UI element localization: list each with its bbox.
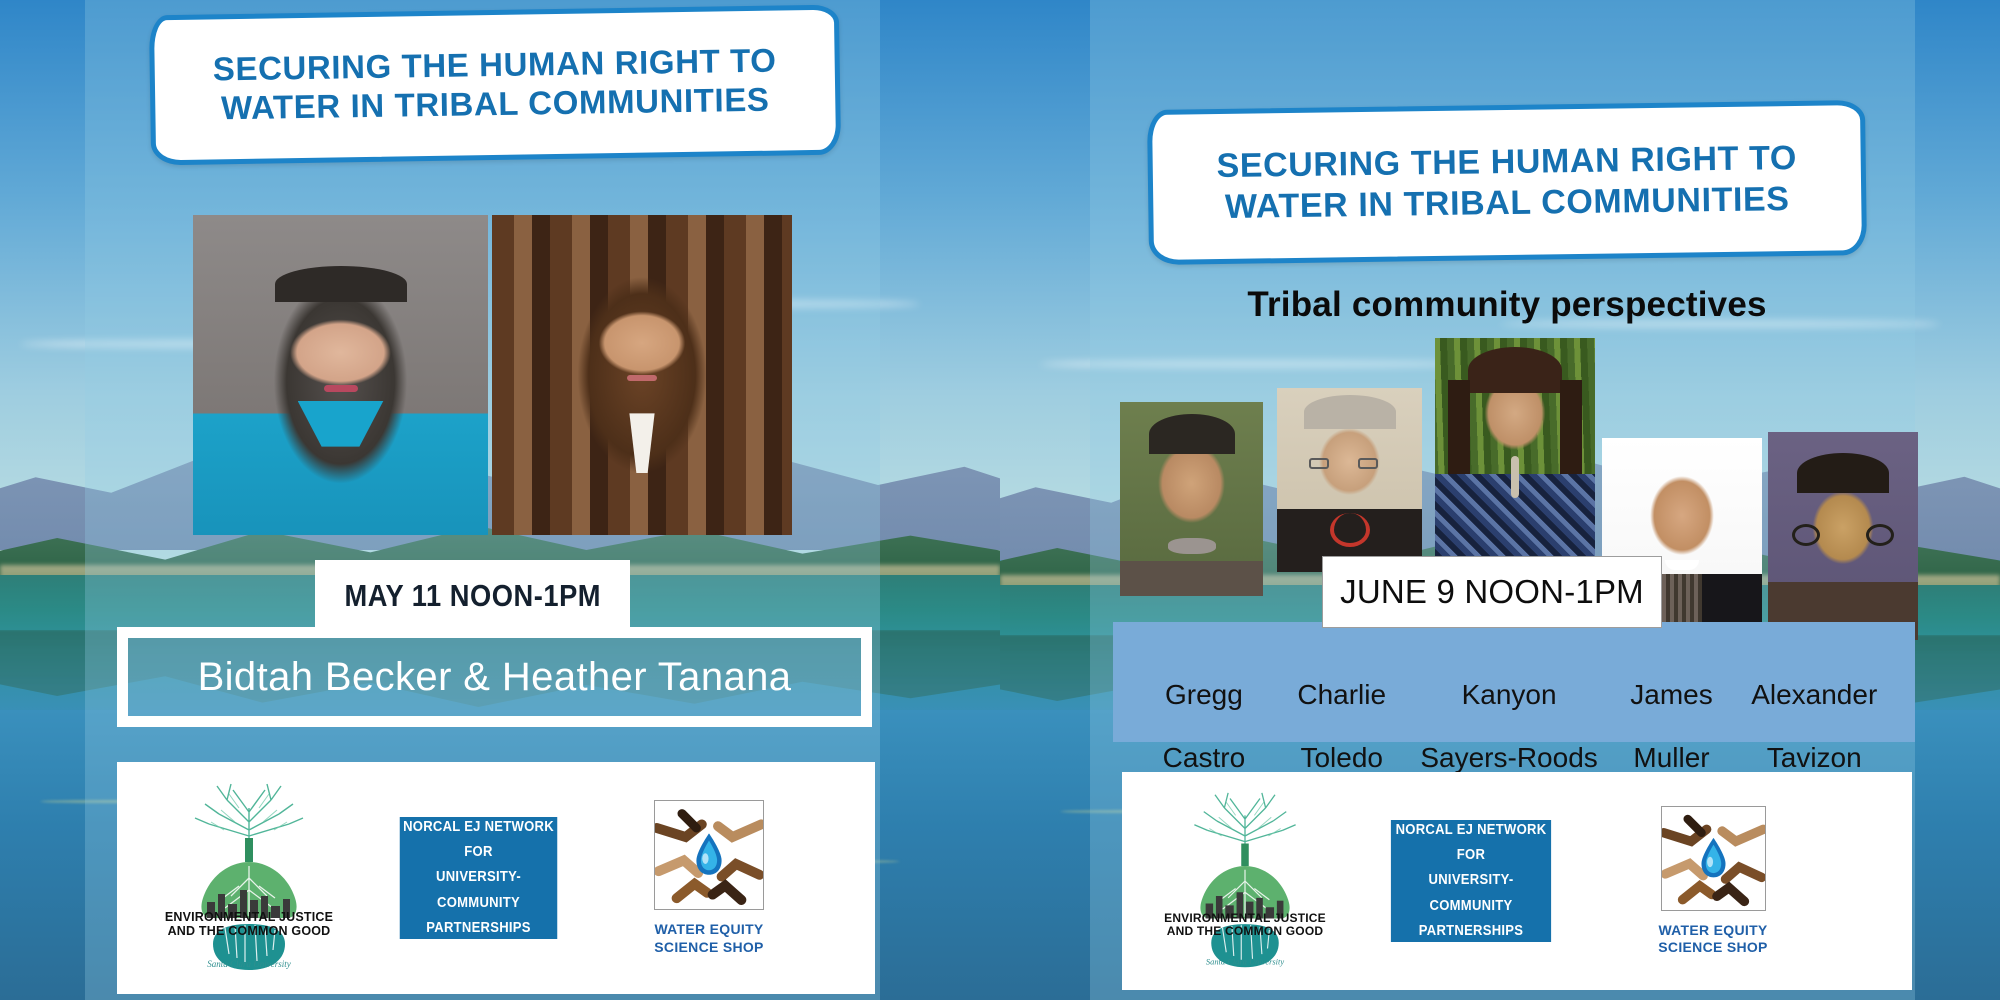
tree-logo-icon: Santa Clara University — [169, 778, 329, 978]
left-ej-caption-line-1: ENVIRONMENTAL JUSTICE — [163, 910, 335, 924]
left-norcal-line-3: PARTNERSHIPS — [400, 916, 558, 941]
flyer-pair-canvas: SECURING THE HUMAN RIGHT TO WATER IN TRI… — [0, 0, 2000, 1000]
right-date-chip: JUNE 9 NOON-1PM — [1322, 556, 1662, 628]
right-logo-water-equity-science-shop: WATER EQUITY SCIENCE SHOP — [1638, 806, 1788, 956]
panelist-last-name: Castro — [1135, 742, 1273, 773]
right-logo-bar: Santa Clara University ENVIRONMENTAL JUS… — [1122, 772, 1912, 990]
left-title-ribbon: SECURING THE HUMAN RIGHT TO WATER IN TRI… — [149, 5, 841, 166]
panelist-last-name: Toledo — [1273, 742, 1411, 773]
right-title-ribbon: SECURING THE HUMAN RIGHT TO WATER IN TRI… — [1147, 100, 1867, 265]
right-ej-caption: ENVIRONMENTAL JUSTICE AND THE COMMON GOO… — [1160, 912, 1330, 939]
left-wess-caption-line-2: SCIENCE SHOP — [634, 939, 784, 956]
right-wess-caption-line-1: WATER EQUITY — [1638, 922, 1788, 939]
left-logo-water-equity-science-shop: WATER EQUITY SCIENCE SHOP — [634, 800, 784, 955]
left-speakers-label: Bidtah Becker & Heather Tanana — [198, 655, 792, 700]
panelist-last-name: Tavizon — [1735, 742, 1893, 773]
panelist-photo-kanyon-sayers-roods — [1435, 338, 1595, 573]
left-ej-caption: ENVIRONMENTAL JUSTICE AND THE COMMON GOO… — [163, 910, 335, 938]
left-speakers-frame: Bidtah Becker & Heather Tanana — [117, 627, 872, 727]
right-norcal-line-1: NORCAL EJ NETWORK FOR — [1391, 818, 1551, 869]
left-wess-caption-line-1: WATER EQUITY — [634, 921, 784, 938]
panelist-first-name: Charlie — [1273, 679, 1411, 710]
left-date-chip: MAY 11 NOON-1PM — [315, 560, 630, 632]
right-wess-caption: WATER EQUITY SCIENCE SHOP — [1638, 922, 1788, 956]
left-logo-environmental-justice: Santa Clara University ENVIRONMENTAL JUS… — [169, 778, 329, 978]
panelist-photo-alexander-tavizon — [1768, 432, 1918, 640]
right-subtitle: Tribal community perspectives — [1148, 285, 1866, 325]
right-panelist-name-band: Gregg Castro Charlie Toledo Kanyon Sayer… — [1113, 622, 1915, 742]
right-logo-norcal-ej-network: NORCAL EJ NETWORK FOR UNIVERSITY-COMMUNI… — [1391, 820, 1551, 942]
right-logo-environmental-justice: Santa Clara University ENVIRONMENTAL JUS… — [1170, 785, 1320, 977]
panelist-first-name: Alexander — [1735, 679, 1893, 710]
panelist-photo-gregg-castro — [1120, 402, 1263, 596]
panelist-last-name: Sayers-Roods — [1411, 742, 1608, 773]
right-ej-caption-line-1: ENVIRONMENTAL JUSTICE — [1160, 912, 1330, 925]
panelist-first-name: Kanyon — [1411, 679, 1608, 710]
portrait-bidtah-becker — [193, 215, 488, 535]
right-norcal-line-2: UNIVERSITY-COMMUNITY — [1391, 868, 1551, 919]
left-title-line-2: WATER IN TRIBAL COMMUNITIES — [221, 81, 770, 129]
right-ej-caption-line-2: AND THE COMMON GOOD — [1160, 925, 1330, 938]
left-wess-caption: WATER EQUITY SCIENCE SHOP — [634, 921, 784, 955]
tree-logo-icon: Santa Clara University — [1170, 785, 1320, 977]
left-logo-bar: Santa Clara University ENVIRONMENTAL JUS… — [117, 762, 875, 994]
right-date-label: JUNE 9 NOON-1PM — [1340, 573, 1644, 611]
water-drop-hands-icon — [654, 800, 764, 910]
right-wess-caption-line-2: SCIENCE SHOP — [1638, 939, 1788, 956]
portrait-heather-tanana — [492, 215, 792, 535]
panelist-first-name: James — [1608, 679, 1736, 710]
santa-clara-university-text: Santa Clara University — [207, 959, 291, 969]
right-norcal-line-3: PARTNERSHIPS — [1391, 919, 1551, 944]
left-logo-norcal-ej-network: NORCAL EJ NETWORK FOR UNIVERSITY-COMMUNI… — [400, 817, 558, 939]
right-title-line-2: WATER IN TRIBAL COMMUNITIES — [1225, 179, 1790, 227]
panelist-first-name: Gregg — [1135, 679, 1273, 710]
santa-clara-university-text: Santa Clara University — [1206, 956, 1284, 966]
left-norcal-line-1: NORCAL EJ NETWORK FOR — [400, 815, 558, 866]
left-date-label: MAY 11 NOON-1PM — [344, 578, 601, 614]
panelist-photo-charlie-toledo — [1277, 388, 1422, 572]
left-norcal-line-2: UNIVERSITY-COMMUNITY — [400, 865, 558, 916]
left-ej-caption-line-2: AND THE COMMON GOOD — [163, 924, 335, 938]
panelist-last-name: Muller — [1608, 742, 1736, 773]
water-drop-hands-icon — [1661, 806, 1766, 911]
